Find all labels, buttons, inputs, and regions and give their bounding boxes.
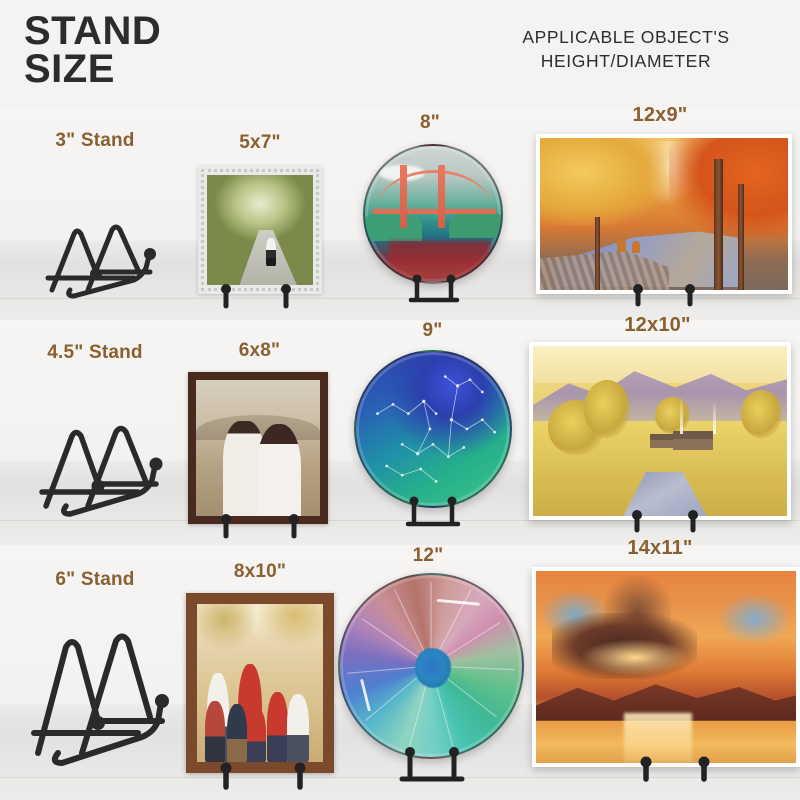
easel-feet-12x9 [624, 286, 714, 310]
easel-feet-5x7 [210, 286, 310, 312]
size-row-3: 6" Stand 8x10" [0, 545, 800, 800]
cell-stand-6in: 6" Stand [0, 545, 190, 800]
label-frame-5x7: 5x7" [180, 132, 340, 154]
easel-feet-6x8 [208, 516, 318, 542]
easel-feet-12in [390, 749, 482, 783]
label-canvas-12x9: 12x9" [520, 104, 800, 127]
artwork-autumn-forest [540, 138, 788, 290]
label-frame-6x8: 6x8" [172, 340, 347, 362]
page-title: STAND SIZE [24, 12, 161, 88]
artwork-sunset-mountains [536, 571, 796, 763]
picture-frame-5x7 [198, 166, 322, 294]
cell-canvas-12x9: 12x9" [520, 108, 800, 320]
picture-frame-8x10 [186, 593, 334, 773]
constellation-lines [356, 352, 510, 506]
easel-feet-8in [401, 276, 471, 304]
cell-frame-8x10: 8x10" [170, 545, 350, 800]
glass-plate-9in [354, 350, 512, 508]
label-canvas-14x11: 14x11" [520, 537, 800, 560]
picture-frame-6x8 [188, 372, 328, 524]
label-stand-6in: 6" Stand [0, 569, 190, 591]
photo-cyclist [207, 175, 313, 285]
label-stand-4_5in: 4.5" Stand [0, 342, 190, 364]
label-canvas-12x10: 12x10" [515, 314, 800, 337]
cell-canvas-12x10: 12x10" [515, 320, 800, 545]
wire-easel-6in [20, 629, 180, 769]
header-subtitle: APPLICABLE OBJECT'S HEIGHT/DIAMETER [476, 26, 776, 73]
infographic-page: STAND SIZE APPLICABLE OBJECT'S HEIGHT/DI… [0, 0, 800, 800]
cell-stand-3in: 3" Stand [0, 108, 190, 320]
canvas-painting-12x10 [529, 342, 791, 520]
wire-easel-3in [30, 216, 170, 300]
label-plate-12in: 12" [328, 545, 528, 567]
wire-easel-4_5in [26, 420, 176, 520]
easel-feet-14x11 [632, 759, 728, 785]
size-row-1: 3" Stand 5x7" [0, 108, 800, 320]
canvas-painting-12x9 [536, 134, 792, 294]
photo-family [197, 604, 323, 762]
cell-plate-8in: 8" [345, 108, 515, 320]
label-frame-8x10: 8x10" [170, 561, 350, 583]
artwork-golden-countryside [533, 346, 787, 516]
cell-frame-5x7: 5x7" [180, 108, 340, 320]
easel-feet-9in [396, 498, 476, 528]
glass-plate-8in [363, 144, 503, 284]
canvas-painting-14x11 [532, 567, 800, 767]
photo-couple [196, 380, 320, 516]
cell-plate-12in: 12" [328, 545, 528, 800]
easel-feet-8x10 [206, 765, 326, 793]
size-row-2: 4.5" Stand 6x8" [0, 320, 800, 545]
easel-feet-12x10 [623, 512, 717, 536]
cell-frame-6x8: 6x8" [172, 320, 347, 545]
header: STAND SIZE APPLICABLE OBJECT'S HEIGHT/DI… [0, 0, 800, 108]
cell-plate-9in: 9" [340, 320, 525, 545]
glass-plate-12in [338, 573, 524, 759]
cell-stand-4_5in: 4.5" Stand [0, 320, 190, 545]
cell-canvas-14x11: 14x11" [520, 545, 800, 800]
label-stand-3in: 3" Stand [0, 130, 190, 152]
label-plate-9in: 9" [340, 320, 525, 342]
label-plate-8in: 8" [345, 112, 515, 134]
